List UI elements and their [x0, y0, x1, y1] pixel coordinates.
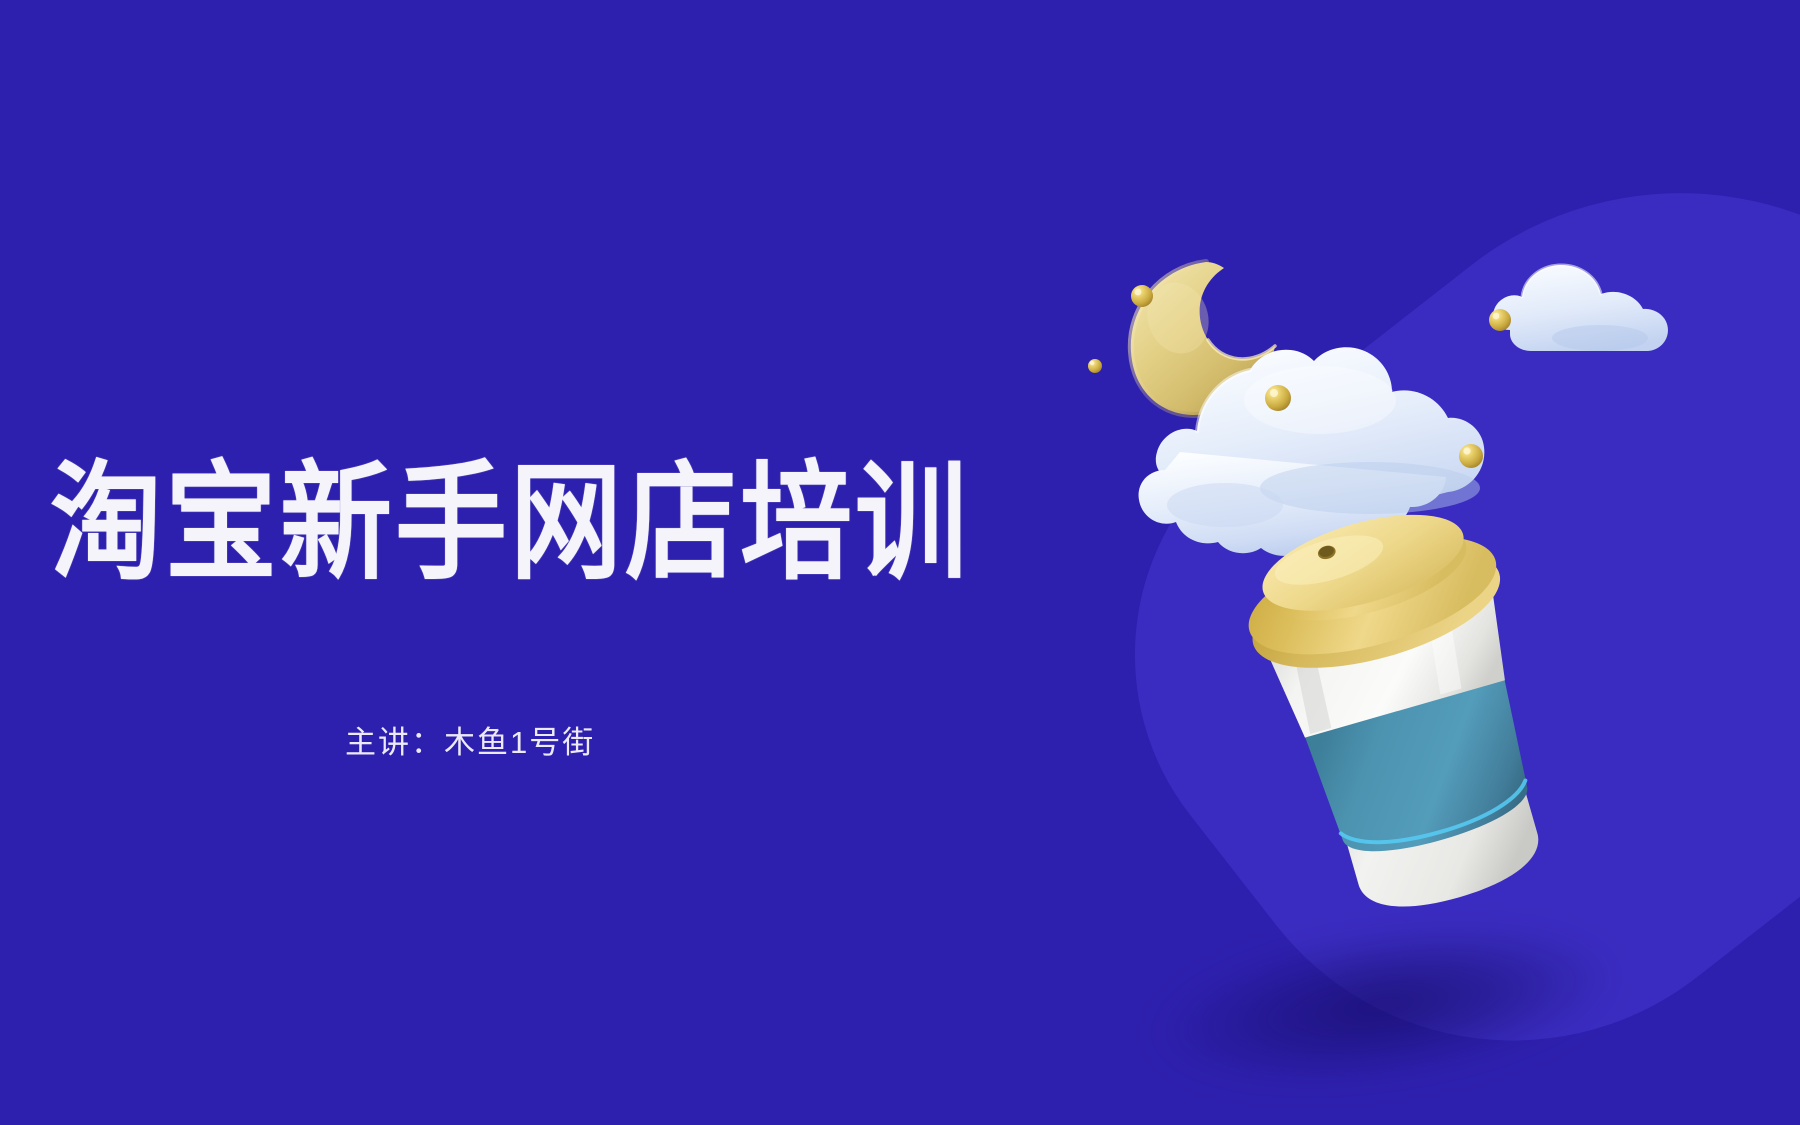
cloud-small-icon [1493, 265, 1668, 351]
cloud-large-icon [1139, 347, 1485, 556]
gold-sphere-5-icon [1489, 309, 1511, 331]
takeaway-coffee-cup-icon [1229, 489, 1582, 933]
title-block: 淘宝新手网店培训 [50, 452, 1050, 577]
background-blob-shape [1030, 56, 1800, 1125]
gold-sphere-2-icon [1088, 359, 1102, 373]
gold-sphere-1-icon [1131, 285, 1153, 307]
presenter-subtitle: 主讲：木鱼1号街 [345, 717, 595, 762]
gold-sphere-3-icon [1265, 385, 1291, 411]
page-title: 淘宝新手网店培训 [50, 452, 1050, 595]
presentation-slide: 淘宝新手网店培训 主讲：木鱼1号街 [0, 0, 1800, 1125]
crescent-moon-icon [1131, 262, 1275, 415]
cup-ground-shadow [1142, 898, 1628, 1112]
gold-sphere-4-icon [1459, 444, 1483, 468]
